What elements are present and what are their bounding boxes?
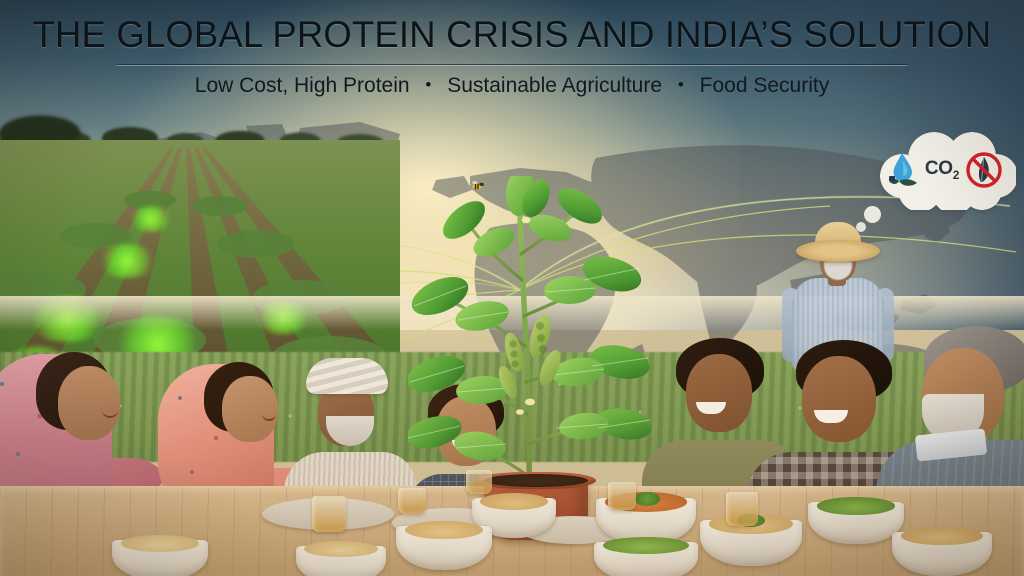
- page-title: THE GLOBAL PROTEIN CRISIS AND INDIA’S SO…: [8, 14, 1017, 56]
- subtitle-separator: •: [668, 75, 694, 95]
- title-divider: [117, 64, 907, 65]
- co2-label: CO2: [925, 159, 959, 181]
- bowl-food: [480, 493, 549, 510]
- subtitle-item-1: Low Cost, High Protein: [195, 74, 410, 97]
- food-bowl: [396, 526, 492, 570]
- title-block: THE GLOBAL PROTEIN CRISIS AND INDIA’S SO…: [0, 14, 1024, 98]
- straw-hat-brim: [796, 240, 880, 262]
- food-bowl: [112, 540, 208, 576]
- soybean-plant: [408, 176, 658, 516]
- subtitle: Low Cost, High Protein • Sustainable Agr…: [0, 74, 1024, 98]
- man-checkered-head: [802, 356, 876, 442]
- thought-bubble-content: CO2: [884, 144, 1008, 196]
- drink-glass: [312, 496, 346, 532]
- woman-second-head: [222, 376, 278, 442]
- bowl-food: [817, 497, 896, 515]
- pot-soil: [484, 474, 588, 487]
- drink-glass: [466, 470, 492, 494]
- thought-bubble-tail-small: [856, 222, 866, 232]
- subtitle-item-2: Sustainable Agriculture: [447, 74, 662, 97]
- food-bowl: [700, 520, 802, 566]
- drink-glass: [398, 488, 426, 514]
- food-bowl: [892, 532, 992, 576]
- salad-bowl: [808, 502, 904, 544]
- salad-bowl: [594, 542, 698, 576]
- food-bowl: [296, 546, 386, 576]
- coriander-garnish: [634, 492, 660, 506]
- poster-image: CO2: [0, 0, 1024, 576]
- man-olive-head: [686, 354, 752, 432]
- woman-left-head: [58, 366, 120, 440]
- glowing-crop-accent: [96, 244, 158, 278]
- water-drop-leaf-icon: [887, 150, 921, 190]
- glowing-crop-accent: [128, 206, 174, 232]
- bowl-food: [121, 535, 200, 552]
- no-pesticide-icon: [963, 149, 1005, 191]
- bowl-food: [603, 537, 688, 554]
- subtitle-item-3: Food Security: [700, 74, 830, 97]
- bowl-food: [901, 527, 983, 545]
- drink-glass: [726, 492, 758, 526]
- turban-wrap: [306, 358, 388, 394]
- subtitle-separator: •: [415, 75, 441, 95]
- drink-glass: [608, 482, 636, 510]
